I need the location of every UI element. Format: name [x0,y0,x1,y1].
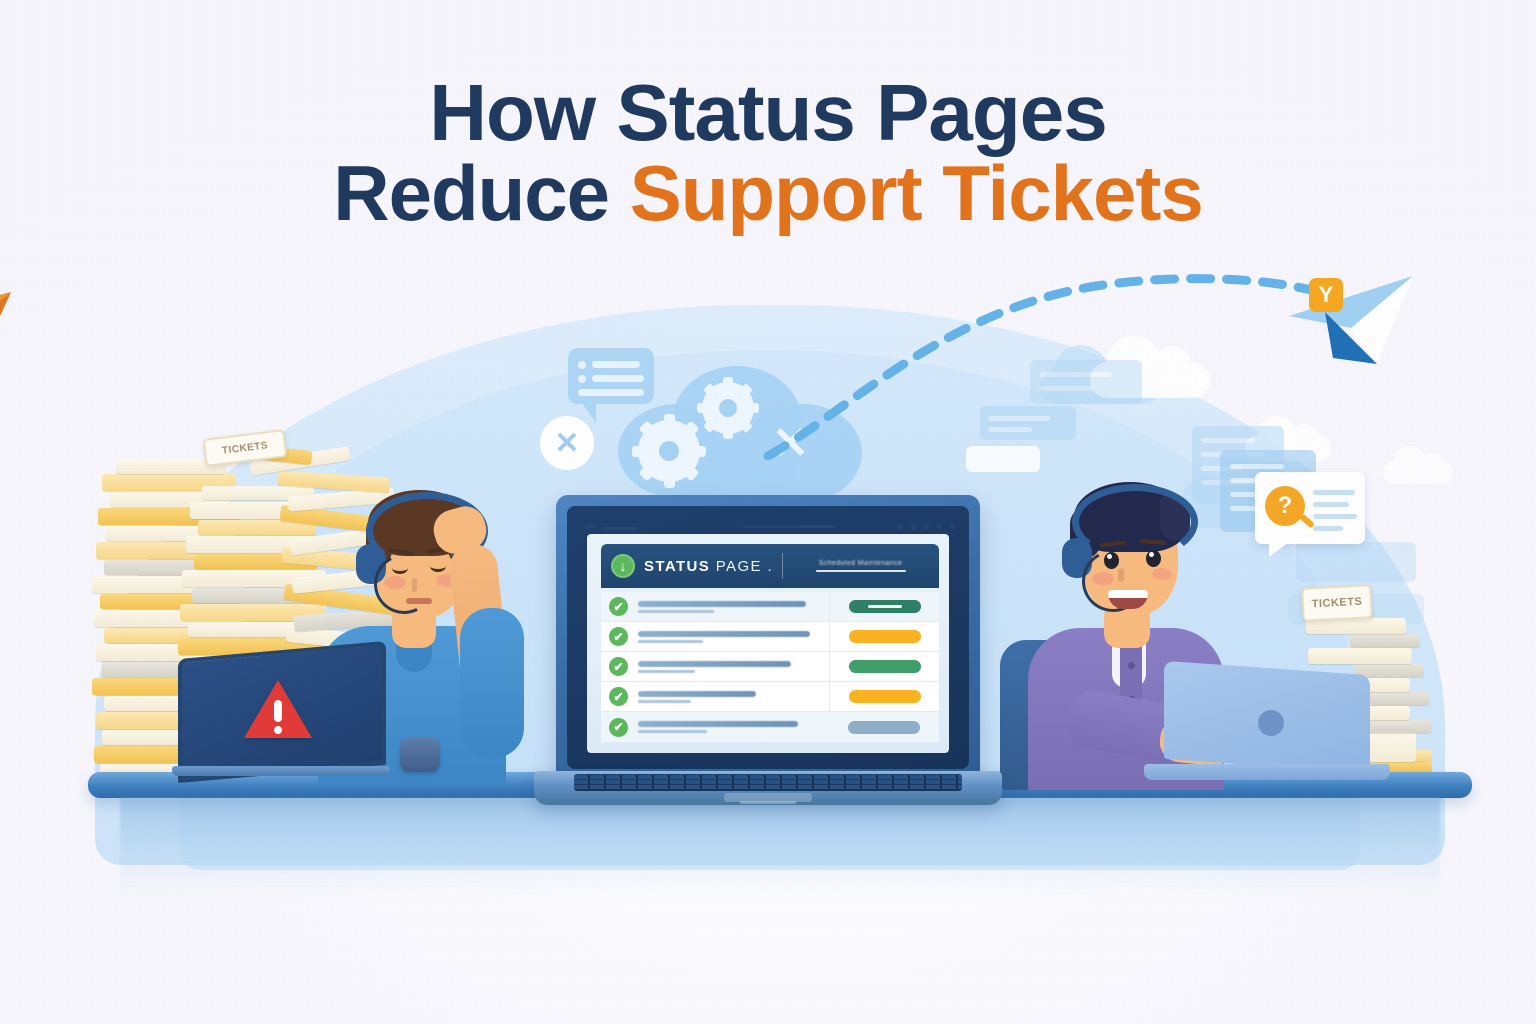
check-icon: ✔ [609,627,628,646]
title-line-2-orange: Support Tickets [630,149,1203,237]
status-row[interactable]: ✔ [601,712,939,742]
check-icon: ✔ [609,657,628,676]
status-badge [849,630,921,643]
cloud-icon [1383,462,1453,484]
center-laptop: ↓ STATUS PAGE . Scheduled Maintenance [556,495,980,805]
status-page-header: ↓ STATUS PAGE . Scheduled Maintenance [601,544,939,588]
status-cell [829,682,939,711]
laptop-notch [740,801,796,804]
plane-badge: Y [1309,278,1343,312]
small-paper-plane-icon [0,290,23,349]
service-name-placeholder [638,601,829,613]
status-badge [849,660,921,673]
status-row[interactable]: ✔ [601,592,939,622]
status-row-list: ✔ ✔ [601,592,939,745]
status-page-meta: Scheduled Maintenance [792,560,929,572]
check-icon: ✔ [609,597,628,616]
laptop-bezel: ↓ STATUS PAGE . Scheduled Maintenance [567,506,969,769]
service-name-placeholder [638,721,829,733]
ticket-stack-label: TICKETS [1301,584,1373,622]
status-page-title-light: PAGE . [716,558,773,575]
status-badge [848,721,920,734]
warning-triangle-icon [244,680,312,738]
paper-plane-icon: Y [1285,272,1425,377]
desk-reflection [120,798,1440,894]
status-page-meta-text: Scheduled Maintenance [819,560,903,567]
status-row[interactable]: ✔ [601,682,939,712]
check-icon: ✔ [609,687,628,706]
service-name-placeholder [638,661,829,673]
status-row[interactable]: ✔ [601,652,939,682]
status-page-title: STATUS PAGE . [644,558,773,575]
illustration-canvas: How Status Pages Reduce Support Tickets … [0,0,1536,1024]
document-shape [1030,360,1142,404]
scene: ✕ [0,250,1536,890]
header-divider [782,553,783,579]
left-laptop [178,650,386,780]
agent-sleeve [460,608,524,758]
status-cell [829,622,939,651]
status-row[interactable]: ✔ [601,622,939,652]
page-title: How Status Pages Reduce Support Tickets [0,72,1536,233]
status-page-title-bold: STATUS [644,558,710,575]
status-cell [829,652,939,681]
service-name-placeholder [638,631,829,643]
title-line-2-navy: Reduce [333,149,629,237]
check-icon: ✔ [609,718,628,737]
download-circle-icon: ↓ [611,554,635,578]
document-shape [980,406,1076,440]
computer-mouse [400,738,440,772]
status-page-screen: ↓ STATUS PAGE . Scheduled Maintenance [587,534,949,753]
laptop-lid: ↓ STATUS PAGE . Scheduled Maintenance [556,495,980,777]
title-line-2: Reduce Support Tickets [0,154,1536,234]
status-cell [829,592,939,621]
status-badge [849,600,921,613]
title-line-1: How Status Pages [0,72,1536,154]
status-cell [829,712,939,742]
status-badge [849,690,921,703]
laptop-base [534,771,1002,805]
service-name-placeholder [638,691,829,703]
laptop-keyboard[interactable] [574,774,962,791]
right-laptop [1150,668,1380,788]
laptop-logo-icon [1258,710,1284,736]
